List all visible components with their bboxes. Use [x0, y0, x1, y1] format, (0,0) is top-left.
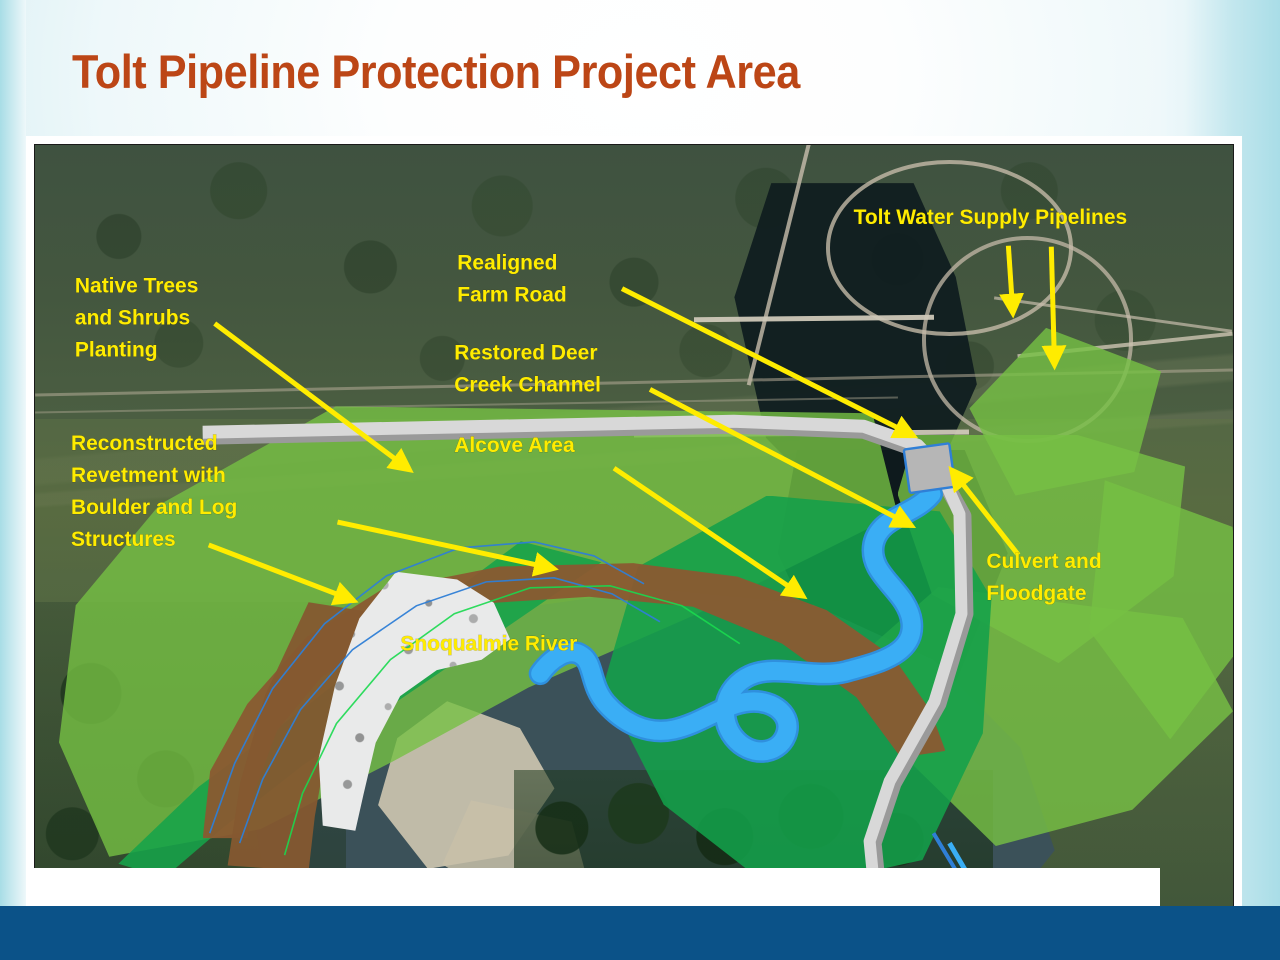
footer-bar: [0, 912, 1280, 960]
label-culvert-line2: Floodgate: [986, 582, 1086, 605]
arrow-revetment: [209, 545, 347, 598]
map-figure-frame: Native Trees and Shrubs Planting Reconst…: [26, 136, 1242, 916]
label-reconstructed-line4: Structures: [71, 528, 176, 551]
label-alcove-area: Alcove Area: [454, 434, 575, 457]
slide-canvas: Tolt Pipeline Protection Project Area: [0, 0, 1280, 960]
label-restored-creek-line1: Restored Deer: [454, 341, 597, 364]
label-reconstructed-line3: Boulder and Log: [71, 496, 237, 519]
label-native-trees-line1: Native Trees: [75, 275, 198, 298]
label-native-trees-line2: and Shrubs: [75, 307, 190, 330]
label-tolt-pipelines: Tolt Water Supply Pipelines: [854, 206, 1128, 229]
arrow-native-trees: [215, 324, 404, 466]
arrow-alcove: [614, 468, 797, 592]
arrow-revetment-2: [337, 522, 546, 567]
label-realigned-road-line2: Farm Road: [457, 284, 566, 307]
label-snoqualmie-river: Snoqualmie River: [400, 633, 577, 656]
label-restored-creek-line2: Creek Channel: [454, 373, 601, 396]
label-realigned-road-line1: Realigned: [457, 252, 557, 275]
label-reconstructed-line2: Revetment with: [71, 464, 226, 487]
culvert-and-floodgate-box[interactable]: [904, 443, 956, 493]
footer-white-strip: [26, 868, 1160, 906]
arrow-pipeline-left: [1008, 246, 1012, 306]
restored-deer-creek-channel[interactable]: [540, 494, 931, 751]
label-culvert-line1: Culvert and: [986, 550, 1101, 573]
label-native-trees-line3: Planting: [75, 338, 158, 361]
arrow-pipeline-right: [1051, 247, 1054, 358]
arrow-farm-road: [622, 289, 907, 433]
aerial-map[interactable]: Native Trees and Shrubs Planting Reconst…: [34, 144, 1234, 908]
page-title: Tolt Pipeline Protection Project Area: [72, 44, 800, 99]
label-reconstructed-line1: Reconstructed: [71, 432, 218, 455]
map-vector-overlay: Native Trees and Shrubs Planting Reconst…: [35, 145, 1233, 907]
